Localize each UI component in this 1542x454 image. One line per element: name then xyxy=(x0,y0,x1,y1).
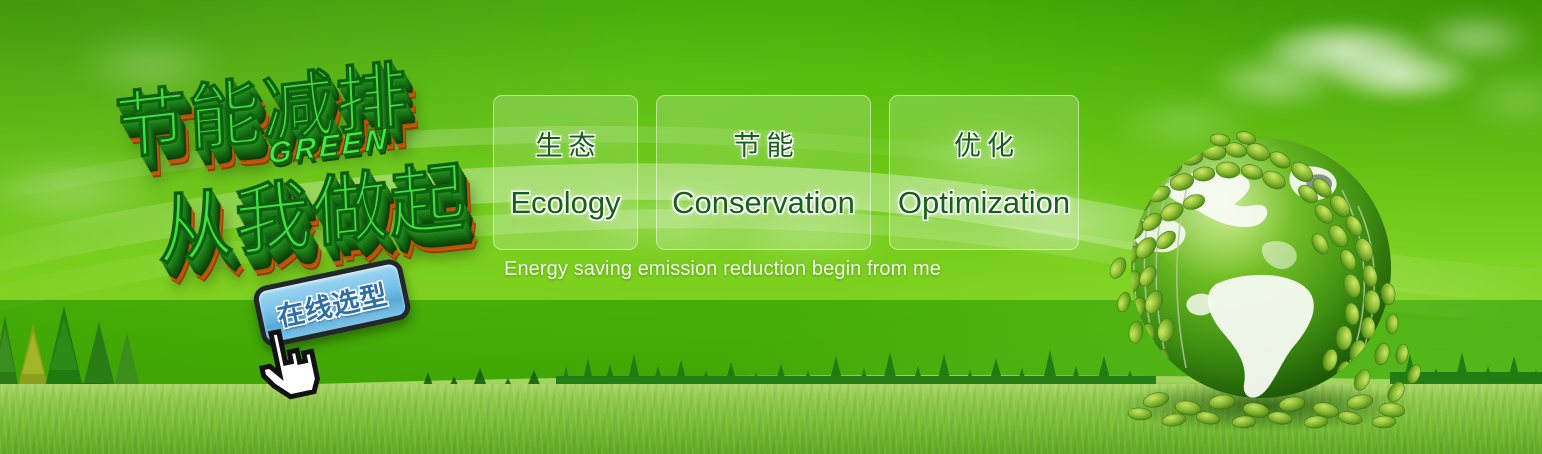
feature-card-cn-label: 优化 xyxy=(948,124,1020,163)
feature-card-optimization[interactable]: 优化 Optimization xyxy=(889,95,1079,250)
feature-card-cn-label: 生态 xyxy=(530,124,602,163)
forest-treeline xyxy=(0,314,1542,394)
feature-card-conservation[interactable]: 节能 Conservation xyxy=(656,95,871,250)
feature-card-en-label: Optimization xyxy=(898,185,1070,221)
feature-card-ecology[interactable]: 生态 Ecology xyxy=(493,95,638,250)
feature-card-cn-label: 节能 xyxy=(728,124,800,163)
feature-cards: 生态 Ecology 节能 Conservation 优化 Optimizati… xyxy=(493,95,1079,250)
conifer-tree-cluster xyxy=(0,298,170,408)
tagline: Energy saving emission reduction begin f… xyxy=(504,258,941,281)
feature-card-en-label: Ecology xyxy=(510,185,620,221)
horizon-curve xyxy=(0,366,1542,406)
grass-field xyxy=(0,384,1542,454)
cta-label: 在线选型 xyxy=(273,272,391,333)
green-energy-banner: 节能减排 GREEN 从我做起 在线选型 生态 Ecology 节能 Conse… xyxy=(0,0,1542,454)
feature-card-en-label: Conservation xyxy=(672,185,855,221)
